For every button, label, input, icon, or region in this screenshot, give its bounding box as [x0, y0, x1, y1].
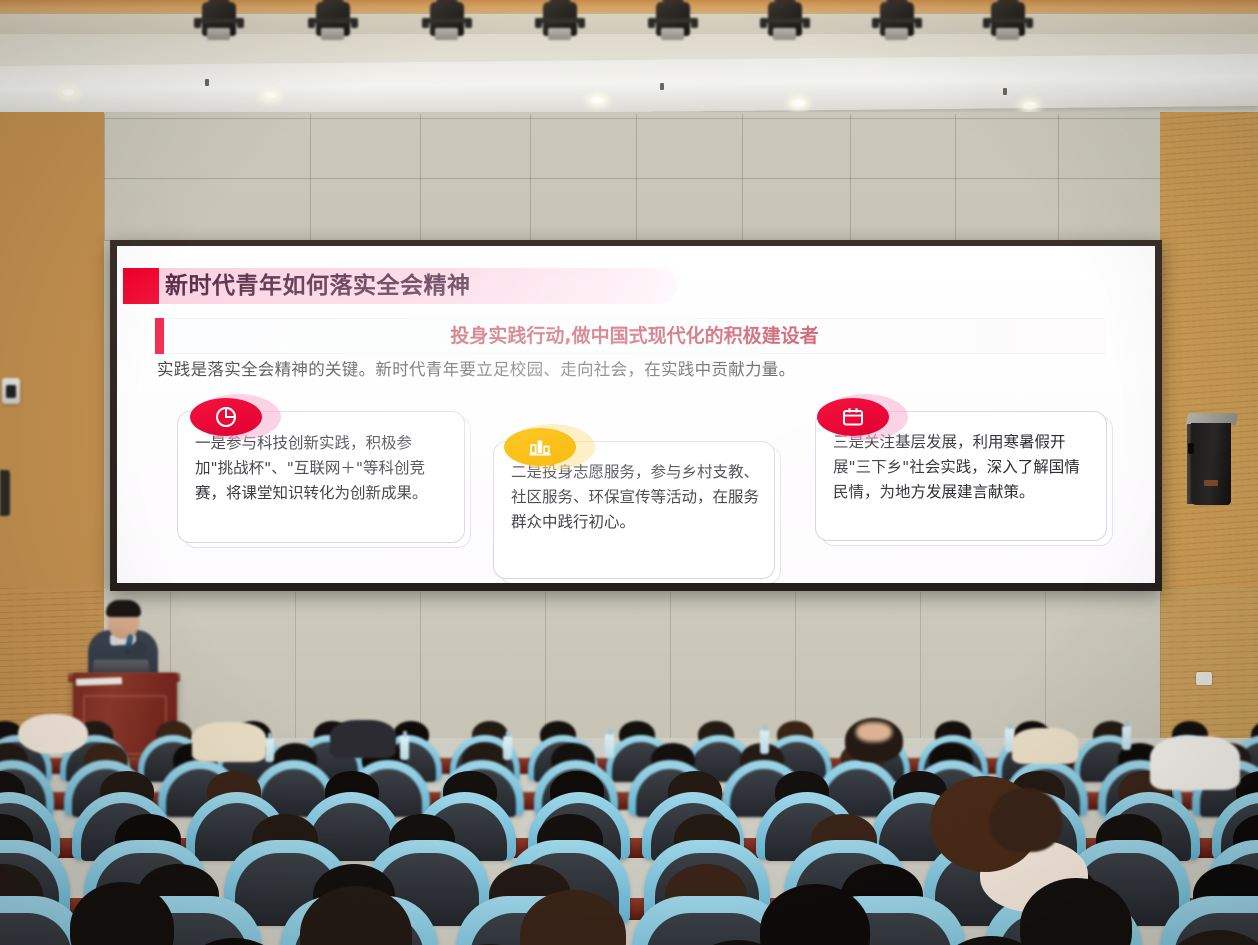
slide-title: 新时代青年如何落实全会精神	[165, 268, 471, 304]
stage-light	[537, 0, 583, 48]
stage-light-lens	[661, 28, 684, 40]
stage-light-lens	[996, 28, 1019, 40]
stage-light-yoke	[425, 18, 469, 23]
wall-seam	[742, 114, 743, 240]
wall-equipment-box	[0, 470, 10, 516]
ceiling-soffit	[0, 54, 1258, 118]
audience-coat	[1012, 728, 1078, 764]
water-bottle	[760, 730, 769, 754]
stage-light-knob	[422, 18, 429, 28]
wall-seam	[636, 114, 637, 240]
audience-coat	[192, 722, 266, 762]
wall-seam	[104, 178, 1160, 179]
stage-light-yoke	[311, 18, 355, 23]
stage-light-knob	[872, 18, 879, 28]
stage-light-yoke	[197, 18, 241, 23]
stage-light	[196, 0, 242, 48]
wall-seam	[850, 114, 851, 240]
card-2-text: 二是投身志愿服务，参与乡村支教、社区服务、环保宣传等活动，在服务群众中践行初心。	[511, 460, 759, 535]
stage-light-knob	[194, 18, 201, 28]
ceiling-downlight	[589, 96, 606, 105]
stage-light	[985, 0, 1031, 48]
ceiling-fixture-hook	[660, 83, 664, 90]
speaker-port	[1188, 443, 1194, 454]
stage-light-lens	[773, 28, 796, 40]
stage-light-knob	[308, 18, 315, 28]
water-bottle	[265, 738, 274, 762]
stage-light-knob	[351, 18, 358, 28]
stage-light-knob	[1026, 18, 1033, 28]
stage-light-knob	[237, 18, 244, 28]
stage-light-knob	[760, 18, 767, 28]
slide-card-row: 一是参与科技创新实践，积极参加"挑战杯"、"互联网＋"等科创竞赛，将课堂知识转化…	[117, 386, 1155, 583]
wall-seam	[310, 114, 311, 240]
wall-camera	[2, 378, 20, 404]
stage-light-yoke	[875, 18, 919, 23]
presenter-hair	[106, 600, 141, 617]
slide-subtitle-accent-bar	[155, 318, 164, 354]
card-3-text: 三是关注基层发展，利用寒暑假开展"三下乡"社会实践，深入了解国情民情，为地方发展…	[833, 430, 1089, 505]
stage-light-lens	[885, 28, 908, 40]
slide-title-accent-block	[123, 268, 159, 304]
stage-light-lens	[321, 28, 344, 40]
water-bottle	[605, 734, 614, 758]
wall-seam	[104, 118, 1160, 119]
slide-subtitle: 投身实践行动,做中国式现代化的积极建设者	[164, 318, 1105, 354]
stage-light	[650, 0, 696, 48]
audience-coat	[330, 720, 396, 758]
stage-light-knob	[983, 18, 990, 28]
stage-light-knob	[915, 18, 922, 28]
lecture-hall-photo: 新时代青年如何落实全会精神 投身实践行动,做中国式现代化的积极建设者 实践是落实…	[0, 0, 1258, 945]
audience-fur-coat	[18, 714, 88, 754]
projection-screen-frame: 新时代青年如何落实全会精神 投身实践行动,做中国式现代化的积极建设者 实践是落实…	[110, 240, 1162, 591]
stage-light-lens	[548, 28, 571, 40]
ceiling-fixture-hook	[205, 79, 209, 86]
pie-chart-icon	[190, 398, 262, 436]
wall-seam	[1058, 114, 1059, 240]
bar-chart-icon	[504, 428, 576, 466]
stage-light-knob	[578, 18, 585, 28]
audience-head	[990, 788, 1062, 852]
stage-light-lens	[207, 28, 230, 40]
ceiling-fixture-hook	[1003, 88, 1007, 95]
ceiling-secondary-band	[0, 14, 1258, 36]
wall-seam	[955, 114, 956, 240]
calendar-icon	[817, 398, 889, 436]
stage-light	[762, 0, 808, 48]
water-bottle	[400, 736, 409, 760]
wall-seam	[420, 114, 421, 240]
projection-screen: 新时代青年如何落实全会精神 投身实践行动,做中国式现代化的积极建设者 实践是落实…	[117, 246, 1155, 583]
ceiling-downlight	[1021, 101, 1038, 110]
stage-light	[874, 0, 920, 48]
card-1-text: 一是参与科技创新实践，积极参加"挑战杯"、"互联网＋"等科创竞赛，将课堂知识转化…	[195, 431, 447, 506]
audience-coat	[1150, 736, 1240, 790]
ceiling-downlight	[60, 88, 77, 97]
stage-light-knob	[803, 18, 810, 28]
ceiling-downlight	[262, 91, 279, 100]
speaker-logo	[1204, 480, 1218, 486]
audience-head-highlight	[856, 722, 892, 742]
stage-light-knob	[535, 18, 542, 28]
audience-seat-cushion	[0, 913, 72, 945]
stage-light-lens	[435, 28, 458, 40]
wall-loudspeaker	[1187, 413, 1237, 507]
audience-seat-cushion	[646, 913, 776, 945]
wall-seam	[104, 114, 105, 240]
stage-light-yoke	[538, 18, 582, 23]
stage-light-knob	[691, 18, 698, 28]
water-bottle	[503, 736, 512, 760]
wall-outlet	[1196, 672, 1212, 685]
speaker-grille	[1191, 423, 1231, 505]
stage-light-knob	[465, 18, 472, 28]
stage-light	[310, 0, 356, 48]
water-bottle	[1122, 726, 1131, 750]
stage-light-yoke	[651, 18, 695, 23]
stage-light-yoke	[763, 18, 807, 23]
stage-light	[424, 0, 470, 48]
wall-seam	[530, 114, 531, 240]
stage-light-knob	[648, 18, 655, 28]
slide-lead-paragraph: 实践是落实全会精神的关键。新时代青年要立足校园、走向社会，在实践中贡献力量。	[157, 356, 1117, 380]
seated-audience	[0, 700, 1258, 945]
ceiling-downlight	[790, 99, 807, 108]
stage-light-yoke	[986, 18, 1030, 23]
presentation-slide: 新时代青年如何落实全会精神 投身实践行动,做中国式现代化的积极建设者 实践是落实…	[117, 246, 1155, 583]
